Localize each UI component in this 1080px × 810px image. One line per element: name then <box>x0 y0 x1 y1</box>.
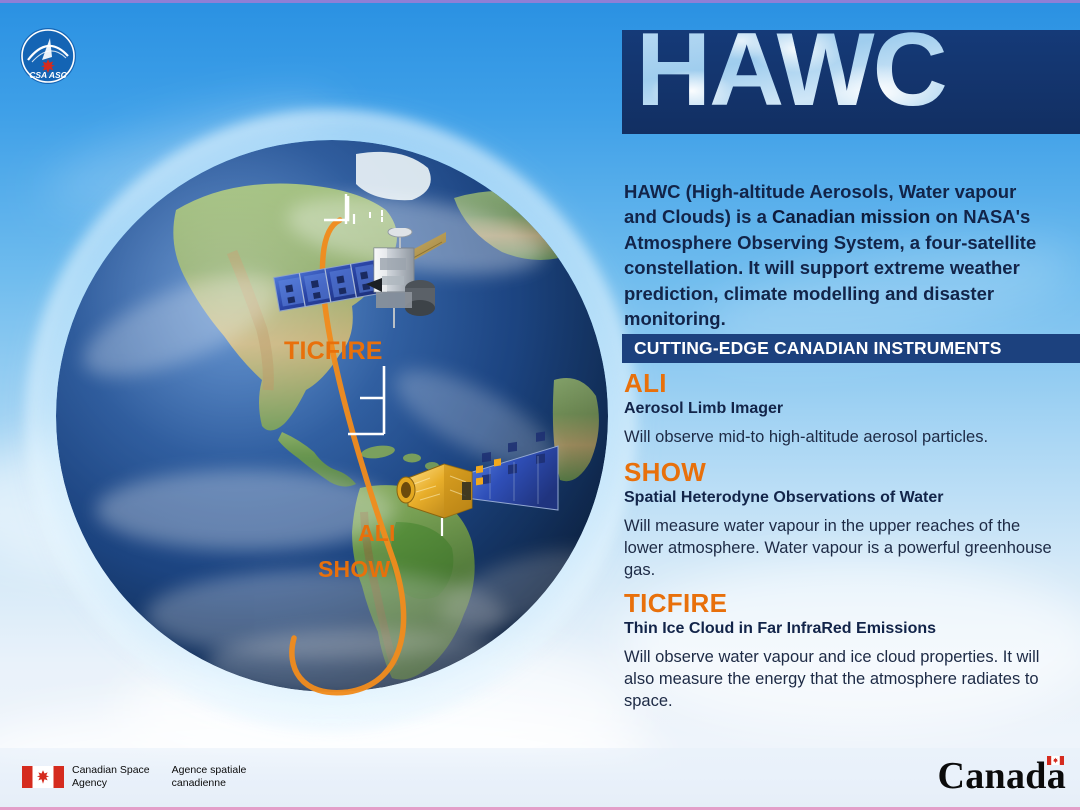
instrument-description-ali: Will observe mid-to high-altitude aeroso… <box>624 427 1056 449</box>
callout-label-ticfire: TICFIRE <box>284 337 383 366</box>
earth-globe-illustration: TICFIRE ALI SHOW <box>48 132 614 708</box>
right-content-column: HAWC HAWC (High-altitude Aerosols, Water… <box>622 0 1080 760</box>
instrument-fullname-ticfire: Thin Ice Cloud in Far InfraRed Emissions <box>624 619 1056 638</box>
instrument-description-ticfire: Will observe water vapour and ice cloud … <box>624 647 1056 713</box>
instrument-block-show: SHOW Spatial Heterodyne Observations of … <box>624 459 1056 582</box>
instrument-acronym-ticfire: TICFIRE <box>624 590 1056 617</box>
instrument-acronym-show-text: SHOW <box>624 457 706 487</box>
callout-leader-lines <box>48 132 614 708</box>
callout-ticfire-text: TICFIRE <box>284 337 383 365</box>
instrument-acronym-ali-text: ALI <box>624 368 667 398</box>
instrument-block-ticfire: TICFIRE Thin Ice Cloud in Far InfraRed E… <box>624 590 1056 713</box>
page-title: HAWC <box>636 30 946 122</box>
agency-name-en: Canadian Space Agency <box>72 764 150 790</box>
callout-show-text: SHOW <box>318 556 390 582</box>
instrument-block-ali: ALI Aerosol Limb Imager Will observe mid… <box>624 370 1056 449</box>
instrument-acronym-ticfire-text: TICFIRE <box>624 588 727 618</box>
instrument-description-show: Will measure water vapour in the upper r… <box>624 516 1056 582</box>
csa-asc-logo-icon: CSA ASC <box>18 26 78 86</box>
top-border-rule <box>0 0 1080 3</box>
instrument-acronym-show: SHOW <box>624 459 1056 486</box>
instrument-fullname-show: Spatial Heterodyne Observations of Water <box>624 488 1056 507</box>
footer-bar: Canadian Space Agency Agence spatiale ca… <box>0 748 1080 810</box>
hawc-title-banner: HAWC <box>622 30 1080 134</box>
intro-highlight: Canadian mission <box>772 206 930 227</box>
callout-label-show: SHOW <box>318 556 390 583</box>
canada-wordmark: Canada <box>937 754 1066 798</box>
svg-text:CSA ASC: CSA ASC <box>29 70 67 80</box>
section-header-title: CUTTING-EDGE CANADIAN INSTRUMENTS <box>634 338 1002 359</box>
callout-ali-text: ALI <box>358 520 396 546</box>
csa-bilingual-wordmark: Canadian Space Agency Agence spatiale ca… <box>72 764 246 790</box>
section-header-bar: CUTTING-EDGE CANADIAN INSTRUMENTS <box>622 334 1080 363</box>
agency-name-fr: Agence spatiale canadienne <box>172 764 247 790</box>
infographic-poster: CSA ASC <box>0 0 1080 810</box>
canada-wordmark-flag-icon <box>1047 756 1064 765</box>
instrument-acronym-ali: ALI <box>624 370 1056 397</box>
callout-label-ali: ALI <box>358 520 396 547</box>
canadian-flag-icon <box>22 766 64 788</box>
instrument-fullname-ali: Aerosol Limb Imager <box>624 399 1056 418</box>
intro-paragraph: HAWC (High-altitude Aerosols, Water vapo… <box>624 179 1042 332</box>
